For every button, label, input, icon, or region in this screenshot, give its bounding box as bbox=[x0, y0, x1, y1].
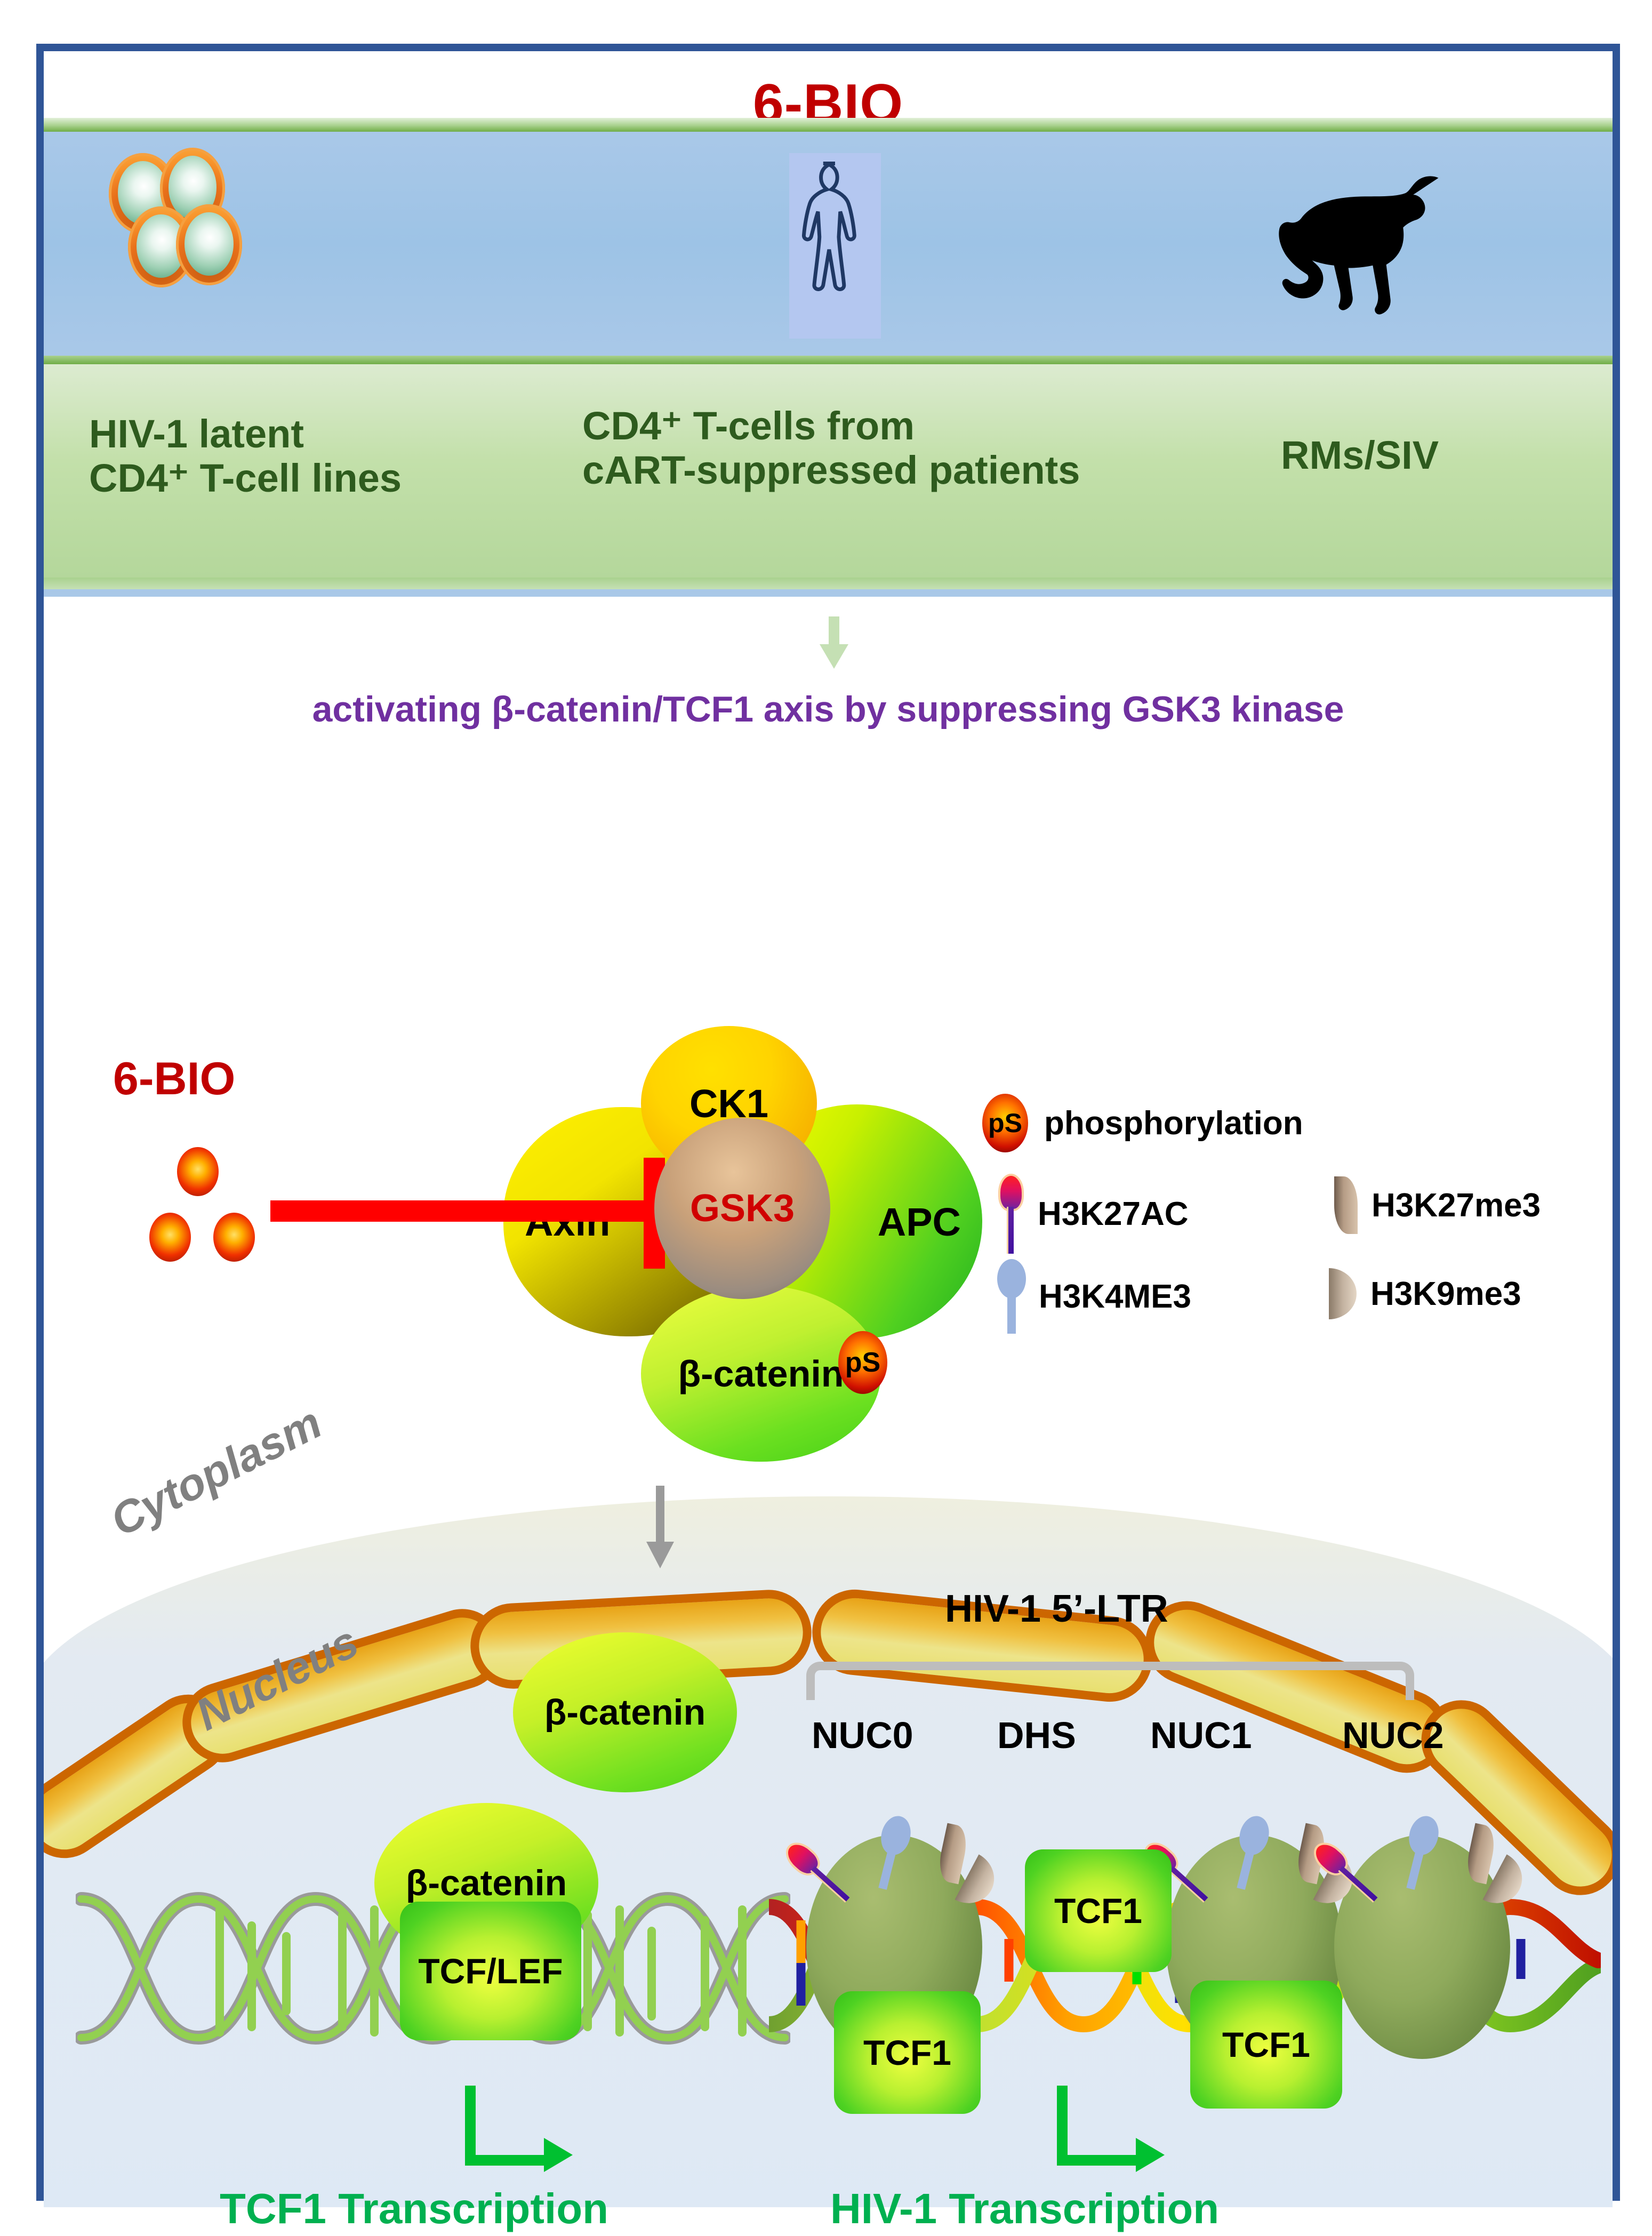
inhibition-bar-horizontal bbox=[270, 1200, 665, 1222]
6bio-molecule-dot-2 bbox=[149, 1213, 191, 1262]
arrow-down-icon-translocation bbox=[646, 1486, 674, 1568]
legend-label-h3k4me3: H3K4ME3 bbox=[1039, 1278, 1191, 1316]
human-patient-icon bbox=[789, 153, 881, 339]
model-label-patients: CD4⁺ T-cells from cART-suppressed patien… bbox=[582, 404, 1080, 493]
model-systems-label-band: HIV-1 latent CD4⁺ T-cell lines CD4⁺ T-ce… bbox=[44, 364, 1613, 578]
legend-item-h3k4me3: H3K4ME3 bbox=[997, 1259, 1191, 1334]
ltr-region-nuc2: NUC2 bbox=[1342, 1714, 1444, 1757]
model-label-cell-lines-line2: CD4⁺ T-cell lines bbox=[89, 456, 402, 500]
band-divider-middle bbox=[44, 356, 1613, 364]
model-systems-image-band bbox=[44, 132, 1613, 356]
h3k27me3-icon bbox=[1334, 1176, 1358, 1234]
legend-item-phosphorylation: pS phosphorylation bbox=[982, 1094, 1303, 1152]
tf-box-tcf1-dhs-upper: TCF1 bbox=[1025, 1849, 1172, 1972]
nucleus-region bbox=[44, 1416, 1613, 2207]
h3k27ac-icon bbox=[998, 1174, 1025, 1254]
6bio-molecule-dot-3 bbox=[213, 1213, 255, 1262]
model-label-rms-siv: RMs/SIV bbox=[1281, 434, 1439, 478]
legend-item-h3k27me3: H3K27me3 bbox=[1334, 1176, 1541, 1234]
legend-item-h3k9me3: H3K9me3 bbox=[1329, 1268, 1521, 1319]
drug-label-6bio: 6-BIO bbox=[113, 1053, 235, 1105]
legend-label-h3k27me3: H3K27me3 bbox=[1372, 1187, 1541, 1224]
tf-box-tcf-lef: TCF/LEF bbox=[400, 1902, 581, 2040]
legend-label-h3k9me3: H3K9me3 bbox=[1370, 1275, 1521, 1313]
phospho-serine-icon-bcatenin: pS bbox=[838, 1331, 887, 1394]
tf-box-tcf1-nuc1-lower: TCF1 bbox=[1190, 1981, 1342, 2109]
6bio-molecule-dot-1 bbox=[177, 1147, 219, 1196]
rhesus-macaque-icon bbox=[1220, 161, 1475, 321]
arrow-down-icon-middle bbox=[820, 616, 848, 669]
ltr-region-nuc1: NUC1 bbox=[1150, 1714, 1252, 1757]
phospho-serine-icon: pS bbox=[982, 1094, 1028, 1152]
band-divider-top bbox=[44, 118, 1613, 132]
band-divider-bottom-blue bbox=[44, 589, 1613, 597]
legend-label-h3k27ac: H3K27AC bbox=[1038, 1195, 1189, 1233]
protein-beta-catenin-nuclear: β-catenin bbox=[513, 1632, 737, 1792]
tf-box-tcf1-nuc0-lower: TCF1 bbox=[834, 1991, 981, 2114]
model-label-patients-line1: CD4⁺ T-cells from bbox=[582, 404, 915, 448]
protein-gsk3: GSK3 bbox=[654, 1118, 830, 1299]
model-label-patients-line2: cART-suppressed patients bbox=[582, 448, 1080, 492]
ltr-region-dhs: DHS bbox=[997, 1714, 1076, 1757]
macaque-silhouette-svg bbox=[1220, 161, 1475, 321]
h3k9me3-icon bbox=[1329, 1268, 1357, 1319]
h3k4me3-icon bbox=[997, 1259, 1026, 1334]
legend-label-phosphorylation: phosphorylation bbox=[1044, 1104, 1303, 1142]
legend-item-h3k27ac: H3K27AC bbox=[998, 1174, 1189, 1254]
figure-frame: 6-BIO Reactivates latent HIV/SIV bbox=[36, 44, 1620, 2201]
model-label-cell-lines: HIV-1 latent CD4⁺ T-cell lines bbox=[89, 412, 402, 501]
output-label-tcf1-transcription: TCF1 Transcription bbox=[220, 2184, 608, 2233]
ltr-bracket bbox=[806, 1662, 1414, 1700]
mechanism-text: activating β-catenin/TCF1 axis by suppre… bbox=[44, 688, 1613, 730]
output-label-hiv1-transcription: HIV-1 Transcription bbox=[830, 2184, 1219, 2233]
band-divider-bottom bbox=[44, 578, 1613, 589]
latent-t-cell-cluster-icon bbox=[86, 148, 268, 329]
ltr-region-nuc0: NUC0 bbox=[812, 1714, 913, 1757]
model-label-cell-lines-line1: HIV-1 latent bbox=[89, 412, 304, 456]
human-silhouette-svg bbox=[789, 153, 881, 339]
ltr-title: HIV-1 5’-LTR bbox=[945, 1587, 1168, 1631]
